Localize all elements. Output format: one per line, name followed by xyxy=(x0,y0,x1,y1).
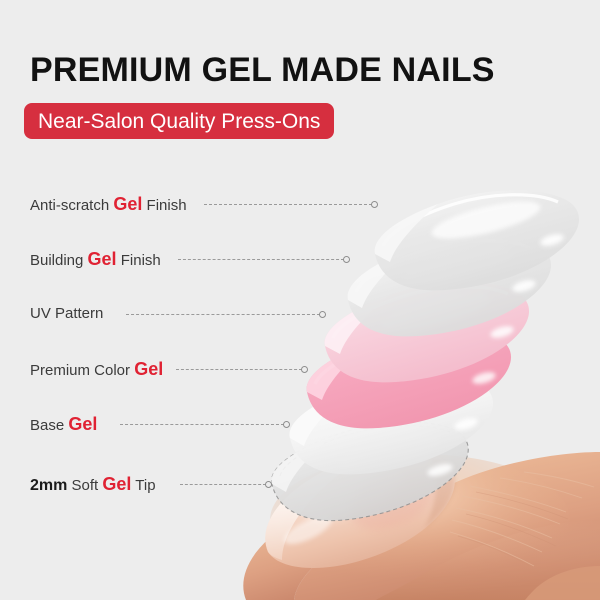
layer-label-building-gel-finish: Building Gel Finish xyxy=(30,247,161,273)
layer-label-post: Finish xyxy=(142,197,186,214)
dashed-connector-line-2 xyxy=(178,259,344,261)
layer-label-premium-color-gel: Premium Color Gel xyxy=(30,357,163,383)
nail-layer-artwork xyxy=(0,0,600,600)
layer-label-gel: Gel xyxy=(102,474,131,494)
layer-label-uv-pattern: UV Pattern xyxy=(30,302,103,326)
layer-label-gel: Gel xyxy=(134,359,163,379)
layer-label-pre: UV Pattern xyxy=(30,305,103,322)
layer-label-post: Finish xyxy=(117,252,161,269)
connector-dot-2 xyxy=(343,256,350,263)
subtitle-badge-label: Near-Salon Quality Press-Ons xyxy=(38,111,320,132)
layer-label-soft-gel-tip: 2mm Soft Gel Tip xyxy=(30,472,156,498)
dashed-connector-line-4 xyxy=(176,369,302,371)
dashed-connector-line-6 xyxy=(180,484,266,486)
layer-label-pre: Premium Color xyxy=(30,362,134,379)
layer-label-gel: Gel xyxy=(113,194,142,214)
layer-label-pre: Soft xyxy=(67,477,102,494)
dashed-connector-line-1 xyxy=(204,204,372,206)
connector-dot-6 xyxy=(265,481,272,488)
layer-label-thickness: 2mm xyxy=(30,477,67,494)
layer-label-pre: Anti-scratch xyxy=(30,197,113,214)
connector-dot-3 xyxy=(319,311,326,318)
dashed-connector-line-5 xyxy=(120,424,284,426)
layer-label-pre: Building xyxy=(30,252,88,269)
connector-dot-4 xyxy=(301,366,308,373)
dashed-connector-line-3 xyxy=(126,314,320,316)
layer-label-post: Tip xyxy=(131,477,155,494)
connector-dot-5 xyxy=(283,421,290,428)
layer-label-gel: Gel xyxy=(88,249,117,269)
layer-label-pre: Base xyxy=(30,417,68,434)
page-title: PREMIUM GEL MADE NAILS xyxy=(30,50,495,90)
layer-label-gel: Gel xyxy=(68,414,97,434)
layer-label-anti-scratch-gel-finish: Anti-scratch Gel Finish xyxy=(30,192,187,218)
connector-dot-1 xyxy=(371,201,378,208)
subtitle-badge: Near-Salon Quality Press-Ons xyxy=(24,103,334,139)
infographic-canvas: PREMIUM GEL MADE NAILS Near-Salon Qualit… xyxy=(0,0,600,600)
layer-label-base-gel: Base Gel xyxy=(30,412,97,438)
